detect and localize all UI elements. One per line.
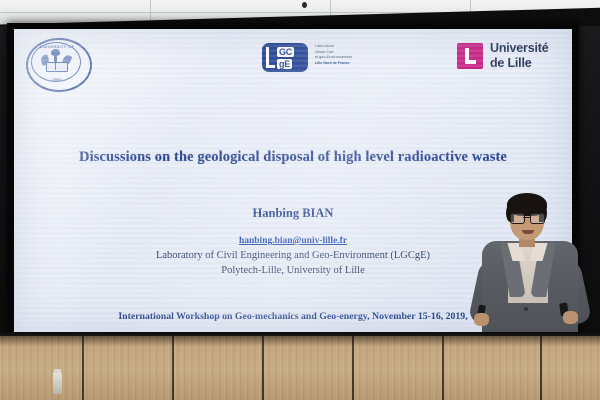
lecture-hall-scene: UNIVERSITY OF 1902 GC gE	[0, 0, 600, 400]
lgcge-badge-icon: GC gE	[262, 43, 308, 72]
ceiling-fixture-icon	[302, 2, 307, 8]
speaker-right-hand	[563, 311, 578, 324]
slide-title: Discussions on the geological disposal o…	[14, 149, 572, 166]
seal-emblem-icon	[42, 52, 70, 72]
lgcge-logo: GC gE Laboratoire Génie Civil et géo-Env…	[262, 41, 392, 77]
universite-de-lille-text: Université de Lille	[490, 41, 548, 71]
udl-line-2: de Lille	[490, 56, 548, 71]
speaker-jacket-button	[524, 307, 528, 311]
glasses-bridge-icon	[523, 217, 530, 218]
lgcge-subtitle-block: Laboratoire Génie Civil et géo-Environne…	[315, 44, 393, 66]
universite-de-lille-logo: Université de Lille	[457, 41, 569, 75]
university-seal-logo: UNIVERSITY OF 1902	[26, 38, 88, 88]
lgcge-gc-text: GC	[277, 47, 294, 57]
glasses-left-lens-icon	[510, 213, 525, 224]
udl-line-1: Université	[490, 41, 548, 56]
seal-arc-bottom-text: 1902	[26, 77, 88, 82]
water-bottle-cap	[54, 369, 61, 373]
glasses-right-lens-icon	[530, 213, 545, 224]
slide-logo-row: UNIVERSITY OF 1902 GC gE	[14, 29, 572, 91]
lgcge-l-mark-icon	[266, 47, 275, 68]
universite-de-lille-mark-icon	[457, 43, 483, 69]
water-bottle	[53, 372, 62, 394]
lgcge-ge-text: gE	[277, 59, 292, 69]
speaker-left-hand	[474, 313, 489, 326]
lgcge-text-line-4: Lille Nord de France	[315, 61, 393, 67]
wood-top-shadow	[0, 336, 600, 346]
